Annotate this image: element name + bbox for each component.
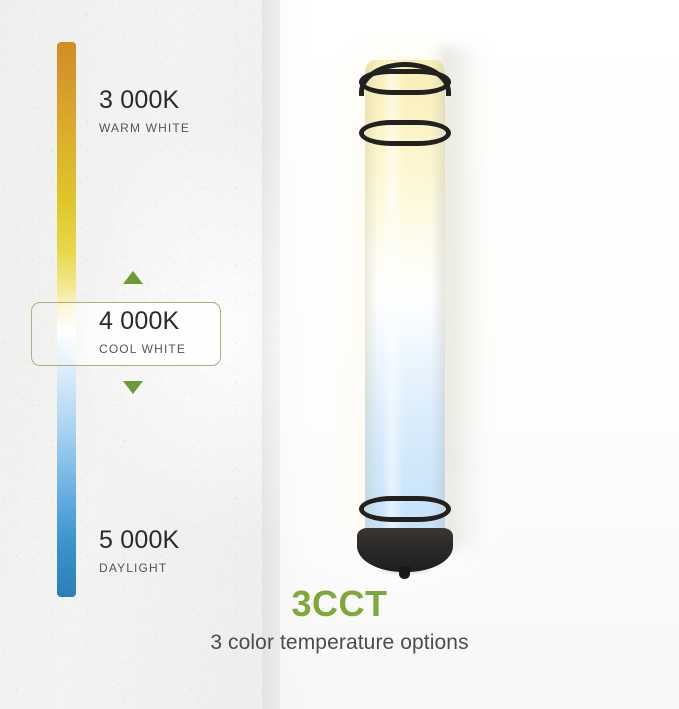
fixture-band-upper xyxy=(359,120,451,146)
arrow-down-icon[interactable] xyxy=(123,381,143,394)
fixture-band-lower xyxy=(359,496,451,522)
wall-light-fixture xyxy=(355,36,455,556)
arrow-up-icon[interactable] xyxy=(123,271,143,284)
cct-selection-box[interactable] xyxy=(31,302,221,366)
feature-headline: 3CCT xyxy=(0,583,679,625)
fixture-base-nub xyxy=(399,566,410,579)
feature-subline: 3 color temperature options xyxy=(0,631,679,655)
fixture-band-top xyxy=(359,69,451,95)
product-feature-graphic: 3 000K WARM WHITE 4 000K COOL WHITE 5 00… xyxy=(0,0,679,709)
